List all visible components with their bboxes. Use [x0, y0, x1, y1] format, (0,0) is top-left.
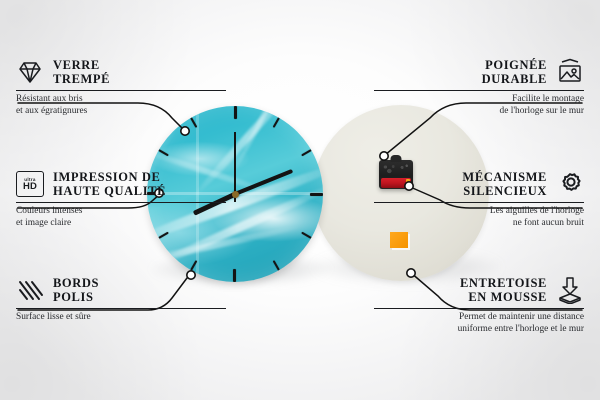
feature-header: ultra HD IMPRESSION DE HAUTE QUALITÉ	[16, 170, 226, 198]
hanging-frame-icon	[556, 58, 584, 86]
foam-spacer-arrow-icon	[556, 276, 584, 304]
feature-description: Facilite le montage de l'horloge sur le …	[374, 94, 584, 117]
title-rule	[16, 202, 226, 203]
feature-title: VERRE TREMPÉ	[53, 58, 110, 86]
feature-title: ENTRETOISE EN MOUSSE	[460, 276, 547, 304]
title-rule	[16, 90, 226, 91]
feature-header: VERRE TREMPÉ	[16, 58, 226, 86]
feature-title: IMPRESSION DE HAUTE QUALITÉ	[53, 170, 166, 198]
ultra-hd-badge-icon: ultra HD	[16, 171, 44, 197]
feature-bords-polis: BORDS POLIS Surface lisse et sûre	[16, 276, 226, 324]
feature-title: MÉCANISME SILENCIEUX	[462, 170, 547, 198]
diagonal-stripes-icon	[16, 276, 44, 304]
feature-impression-haute-qualite: ultra HD IMPRESSION DE HAUTE QUALITÉ Cou…	[16, 170, 226, 229]
title-rule	[374, 90, 584, 91]
endpoint-verre-trempe	[181, 127, 189, 135]
title-rule	[374, 202, 584, 203]
feature-description: Permet de maintenir une distance uniform…	[374, 312, 584, 335]
feature-title: BORDS POLIS	[53, 276, 99, 304]
feature-title: POIGNÉE DURABLE	[482, 58, 547, 86]
infographic-canvas: VERRE TREMPÉ Résistant aux bris et aux é…	[0, 0, 600, 400]
feature-description: Surface lisse et sûre	[16, 312, 226, 323]
title-rule	[374, 308, 584, 309]
feature-poignee-durable: POIGNÉE DURABLE Facilite le montage de l…	[374, 58, 584, 117]
feature-header: MÉCANISME SILENCIEUX	[374, 170, 584, 198]
feature-header: BORDS POLIS	[16, 276, 226, 304]
feature-verre-trempe: VERRE TREMPÉ Résistant aux bris et aux é…	[16, 58, 226, 117]
feature-mecanisme-silencieux: MÉCANISME SILENCIEUX Les aiguilles de l'…	[374, 170, 584, 229]
feature-header: ENTRETOISE EN MOUSSE	[374, 276, 584, 304]
feature-header: POIGNÉE DURABLE	[374, 58, 584, 86]
feature-description: Résistant aux bris et aux égratignures	[16, 94, 226, 117]
title-rule	[16, 308, 226, 309]
feature-description: Les aiguilles de l'horloge ne font aucun…	[374, 206, 584, 229]
endpoint-poignee	[380, 152, 388, 160]
gear-icon	[556, 170, 584, 198]
feature-entretoise-en-mousse: ENTRETOISE EN MOUSSE Permet de maintenir…	[374, 276, 584, 335]
feature-description: Couleurs intenses et image claire	[16, 206, 226, 229]
diamond-icon	[16, 58, 44, 86]
